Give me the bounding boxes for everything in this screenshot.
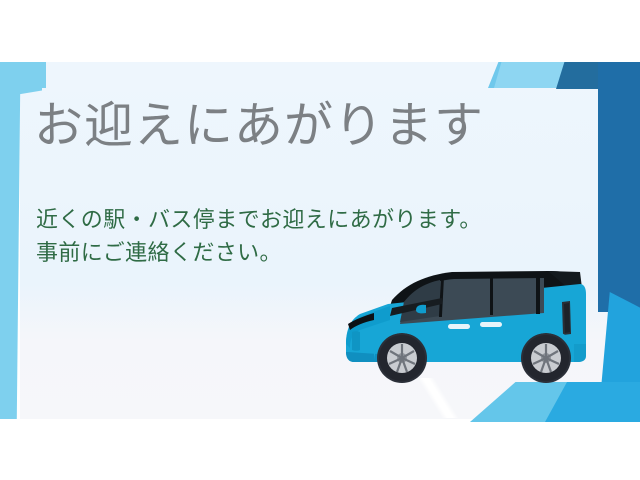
minivan-car-illustration xyxy=(330,258,620,383)
subtitle-line-1: 近くの駅・バス停までお迎えにあがります。 xyxy=(36,203,482,236)
pickup-service-banner: お迎えにあがります 近くの駅・バス停までお迎えにあがります。 事前にご連絡くださ… xyxy=(0,0,640,480)
banner-title: お迎えにあがります xyxy=(34,96,484,156)
